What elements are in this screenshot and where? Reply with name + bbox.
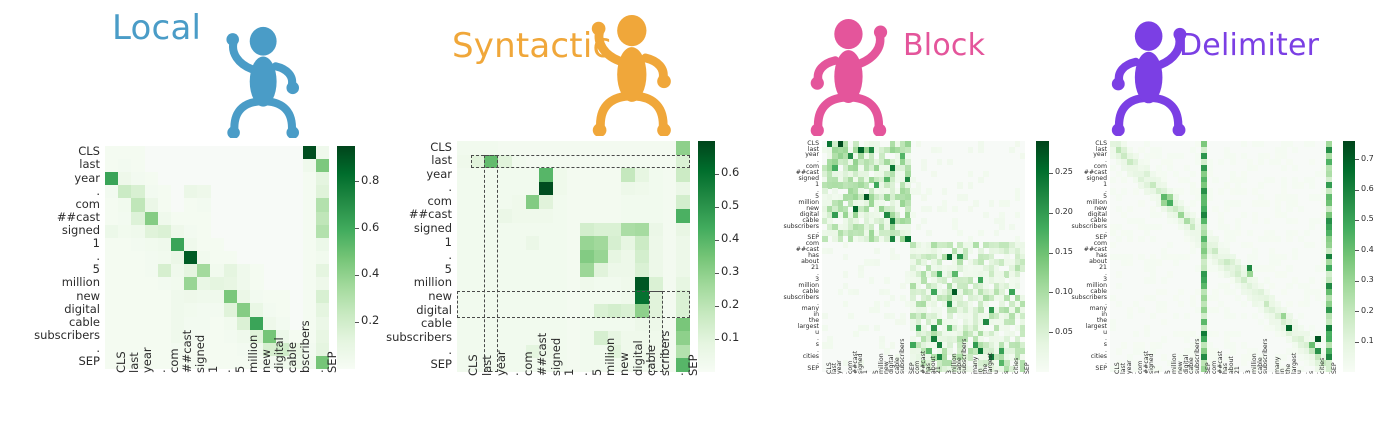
heatmap-cell: [1224, 206, 1230, 212]
heatmap-cell: [1212, 331, 1218, 337]
x-axis-labels-delimiter: CLSlastyear.com##castsigned1.5millionnew…: [1110, 374, 1332, 426]
heatmap-cell: [1298, 313, 1304, 319]
colorbar-ticks-delimiter: 0.10.20.30.40.50.60.7: [1355, 141, 1400, 372]
stick-figure-delimiter: [1110, 20, 1202, 136]
heatmap-cell: [1133, 188, 1139, 194]
heatmap-cell: [1138, 200, 1144, 206]
y-tick-label: subscribers: [1072, 224, 1107, 230]
heatmap-cell: [1309, 141, 1315, 147]
heatmap-cell: [1309, 224, 1315, 230]
heatmap-cell: [1235, 331, 1241, 337]
colorbar-tick-label: 0.2: [1361, 307, 1374, 315]
x-tick-label: subscribers: [1195, 339, 1201, 374]
colorbar-tick-label: 0.5: [1361, 215, 1374, 223]
heatmap-cell: [1258, 182, 1264, 188]
heatmap-cell: [1298, 206, 1304, 212]
heatmap-cell: [1127, 206, 1133, 212]
heatmap-cell: [1184, 313, 1190, 319]
heatmap-cell: [1156, 342, 1162, 348]
heatmap-cell: [1230, 159, 1236, 165]
heatmap-cell: [1190, 248, 1196, 254]
heatmap-cell: [1110, 242, 1116, 248]
heatmap-cell: [1116, 348, 1122, 354]
heatmap-cell: [1230, 313, 1236, 319]
heatmap-cell: [1167, 271, 1173, 277]
heatmap-cell: [1150, 277, 1156, 283]
heatmap-cell: [1269, 177, 1275, 183]
heatmap-cell: [1161, 307, 1167, 313]
heatmap-cell: [1121, 177, 1127, 183]
heatmap-cell: [1264, 200, 1270, 206]
heatmap-cell: [1235, 230, 1241, 236]
colorbar-delimiter: [1343, 141, 1355, 372]
heatmap-cell: [1275, 259, 1281, 265]
heatmap-cell: [1281, 289, 1287, 295]
heatmap-cell: [1161, 336, 1167, 342]
heatmap-cell: [1241, 301, 1247, 307]
heatmap-cell: [1178, 153, 1184, 159]
heatmap-cell: [1207, 194, 1213, 200]
heatmap-cell: [1252, 165, 1258, 171]
heatmap-cell: [1110, 177, 1116, 183]
heatmap-cell: [1309, 159, 1315, 165]
heatmap-cell: [1281, 354, 1287, 360]
heatmap-cell: [1252, 254, 1258, 260]
heatmap-cell: [1110, 325, 1116, 331]
heatmap-cell: [1212, 177, 1218, 183]
heatmap-cell: [1161, 277, 1167, 283]
heatmap-cell: [1138, 236, 1144, 242]
heatmap-cell: [1121, 342, 1127, 348]
heatmap-cell: [1252, 218, 1258, 224]
heatmap-cell: [1138, 307, 1144, 313]
heatmap-cell: [1258, 141, 1264, 147]
heatmap-cell: [1286, 206, 1292, 212]
heatmap-cell: [1286, 301, 1292, 307]
heatmap-cell: [1127, 259, 1133, 265]
heatmap-cell: [1190, 171, 1196, 177]
panel-delimiter: DelimiterCLSlastyear.com##castsigned1.5m…: [0, 0, 1400, 425]
heatmap-cell: [1116, 283, 1122, 289]
heatmap-cell: [1241, 360, 1247, 366]
heatmap-cell: [1156, 212, 1162, 218]
heatmap-cell: [1218, 159, 1224, 165]
colorbar-tick-mark: [1355, 190, 1359, 191]
colorbar-tick-label: 0.7: [1361, 155, 1374, 163]
heatmap-cell: [1230, 348, 1236, 354]
heatmap-cell: [1269, 283, 1275, 289]
heatmap-cell: [1116, 236, 1122, 242]
heatmap-cell: [1230, 236, 1236, 242]
heatmap-cell: [1241, 177, 1247, 183]
colorbar-tick-mark: [1355, 250, 1359, 251]
heatmap-cell: [1309, 242, 1315, 248]
y-tick-label: SEP: [1095, 366, 1107, 372]
heatmap-cell: [1281, 254, 1287, 260]
heatmap-cell: [1156, 224, 1162, 230]
heatmap-cell: [1116, 271, 1122, 277]
colorbar-tick-mark: [1355, 342, 1359, 343]
heatmap-cell: [1286, 236, 1292, 242]
heatmap-cell: [1150, 236, 1156, 242]
x-tick-label: subscribers: [1263, 339, 1269, 374]
stick-figure-icon: [1110, 20, 1202, 136]
heatmap-cell: [1144, 331, 1150, 337]
heatmap-cell: [1235, 200, 1241, 206]
heatmap-cell: [1173, 313, 1179, 319]
heatmap-cell: [1133, 331, 1139, 337]
heatmap-cell: [1275, 236, 1281, 242]
heatmap-cell: [1281, 165, 1287, 171]
heatmap-cell: [1292, 218, 1298, 224]
heatmap-cell: [1184, 254, 1190, 260]
x-tick-label: SEP: [1332, 362, 1338, 374]
heatmap-cell: [1167, 242, 1173, 248]
y-tick-label: subscribers: [1072, 295, 1107, 301]
heatmap-cell: [1116, 301, 1122, 307]
heatmap-cell: [1127, 313, 1133, 319]
heatmap-cell: [1292, 165, 1298, 171]
heatmap-cell: [1127, 236, 1133, 242]
heatmap-cell: [1212, 307, 1218, 313]
colorbar-tick-mark: [1355, 159, 1359, 160]
heatmap-cell: [1150, 313, 1156, 319]
heatmap-cell: [1309, 182, 1315, 188]
colorbar-tick-label: 0.4: [1361, 246, 1374, 254]
heatmap-cell: [1292, 147, 1298, 153]
heatmap-cell: [1173, 259, 1179, 265]
heatmap-delimiter: [1110, 141, 1332, 372]
heatmap-cell: [1286, 265, 1292, 271]
heatmap-cell: [1264, 218, 1270, 224]
heatmap-cell: [1156, 259, 1162, 265]
heatmap-cell: [1241, 141, 1247, 147]
heatmap-cell: [1292, 254, 1298, 260]
colorbar-tick-mark: [1355, 220, 1359, 221]
y-axis-labels-delimiter: CLSlastyear.com##castsigned1.5millionnew…: [0, 141, 1107, 372]
heatmap-cell: [1304, 301, 1310, 307]
heatmap-cell: [1247, 230, 1253, 236]
heatmap-cell: [1309, 277, 1315, 283]
heatmap-cell: [1161, 289, 1167, 295]
heatmap-cell: [1258, 159, 1264, 165]
heatmap-cell: [1298, 182, 1304, 188]
heatmap-cell: [1121, 188, 1127, 194]
heatmap-cell: [1178, 289, 1184, 295]
heatmap-cell: [1241, 212, 1247, 218]
heatmap-cell: [1190, 200, 1196, 206]
heatmap-cell: [1161, 319, 1167, 325]
heatmap-cell: [1218, 188, 1224, 194]
colorbar-tick-label: 0.6: [1361, 185, 1374, 193]
heatmap-cell: [1116, 194, 1122, 200]
heatmap-cell: [1178, 301, 1184, 307]
figure-canvas: LocalCLSlastyear.com##castsigned1.5milli…: [0, 0, 1400, 425]
heatmap-cell: [1281, 271, 1287, 277]
colorbar-tick-label: 0.1: [1361, 337, 1374, 345]
heatmap-cell: [1241, 313, 1247, 319]
heatmap-cell: [1304, 230, 1310, 236]
colorbar-tick-mark: [1355, 311, 1359, 312]
colorbar-gradient: [1343, 141, 1355, 372]
heatmap-cell: [1286, 283, 1292, 289]
heatmap-cell: [1178, 188, 1184, 194]
colorbar-tick-mark: [1355, 281, 1359, 282]
colorbar-tick-label: 0.3: [1361, 276, 1374, 284]
heatmap-cell: [1241, 188, 1247, 194]
